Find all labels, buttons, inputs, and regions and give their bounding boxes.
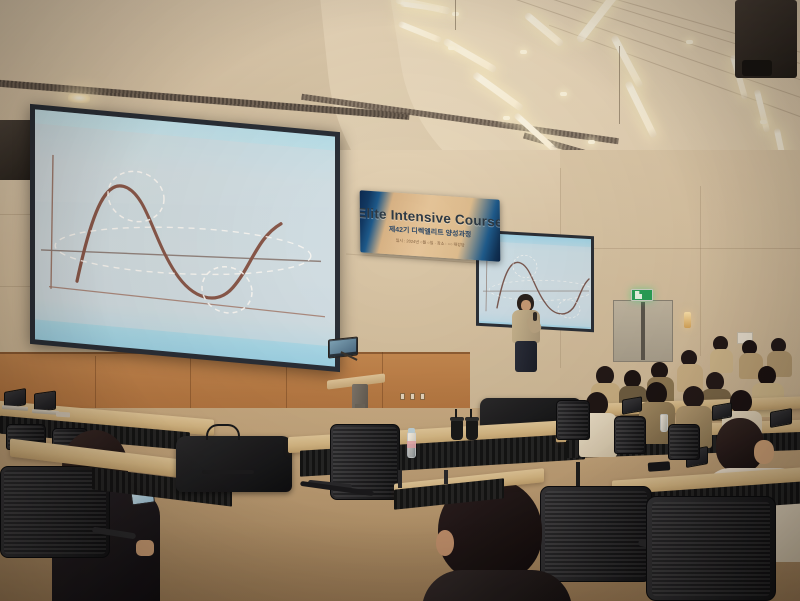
ceiling-lamp-dot bbox=[760, 120, 767, 124]
water-bottle[interactable] bbox=[660, 414, 668, 432]
wall-outlet bbox=[420, 393, 425, 400]
bottle-label bbox=[407, 441, 416, 448]
duffel-bag[interactable] bbox=[176, 436, 292, 492]
foreground-attendee-shoulders bbox=[422, 570, 572, 601]
smartphone-on-desk[interactable] bbox=[648, 461, 671, 472]
ceiling-lamp-dot bbox=[686, 40, 693, 44]
bottle-cap bbox=[408, 428, 415, 433]
wall-sconce-light bbox=[684, 312, 691, 328]
banner-footnote: 일시 : 2024년 ○월 ○일 · 장소 : ○○ 대강당 bbox=[396, 238, 465, 249]
lecture-hall-photo: Elite Intensive Course 제42기 디렉엘리트 양성과정 일… bbox=[0, 0, 800, 601]
desk-clamp bbox=[398, 470, 402, 488]
desk-clamp bbox=[444, 470, 448, 484]
exit-sign bbox=[631, 289, 653, 301]
projection-screen-surface bbox=[35, 109, 335, 366]
projector-lens bbox=[742, 60, 772, 76]
presenter-legs bbox=[515, 341, 537, 372]
ceiling-hanger-rod bbox=[455, 0, 456, 30]
coffee-cup[interactable] bbox=[466, 420, 478, 440]
slide-graph-svg bbox=[35, 109, 335, 366]
ceiling-hanger-rod bbox=[619, 46, 620, 124]
desk-item-paper bbox=[56, 412, 70, 418]
presenter bbox=[506, 294, 546, 372]
cup-straw bbox=[470, 409, 472, 418]
recessed-downlight bbox=[68, 93, 91, 104]
wall-seam bbox=[0, 214, 34, 215]
ceiling-lamp-dot bbox=[560, 92, 567, 96]
wall-seam bbox=[0, 286, 32, 287]
attendee-hand bbox=[136, 540, 154, 556]
ceiling-lamp-dot bbox=[503, 116, 510, 120]
wall-speaker-box bbox=[0, 120, 34, 180]
ceiling-lamp-dot bbox=[588, 140, 595, 144]
coffee-cup[interactable] bbox=[451, 420, 463, 440]
bag-handle[interactable] bbox=[206, 424, 240, 440]
door-mullion bbox=[641, 302, 645, 360]
ceiling-lamp-dot bbox=[448, 46, 455, 50]
attendee-face bbox=[754, 440, 774, 464]
bag-strap bbox=[202, 470, 254, 474]
coffee-cup-lid bbox=[465, 417, 479, 421]
event-banner: Elite Intensive Course 제42기 디렉엘리트 양성과정 일… bbox=[360, 190, 501, 262]
wall-outlet bbox=[410, 393, 415, 400]
microphone-icon bbox=[533, 312, 537, 321]
cup-straw bbox=[455, 409, 457, 418]
ceiling-lamp-dot bbox=[520, 50, 527, 54]
back-wall-right bbox=[560, 150, 800, 400]
exit-running-man-icon bbox=[635, 291, 642, 299]
wall-seam bbox=[700, 186, 701, 356]
wall-outlet bbox=[400, 393, 405, 400]
wall-seam bbox=[560, 248, 800, 249]
foreground-attendee-ear bbox=[436, 530, 454, 556]
coffee-cup-lid bbox=[450, 417, 464, 421]
projection-screen-left[interactable] bbox=[30, 104, 340, 372]
